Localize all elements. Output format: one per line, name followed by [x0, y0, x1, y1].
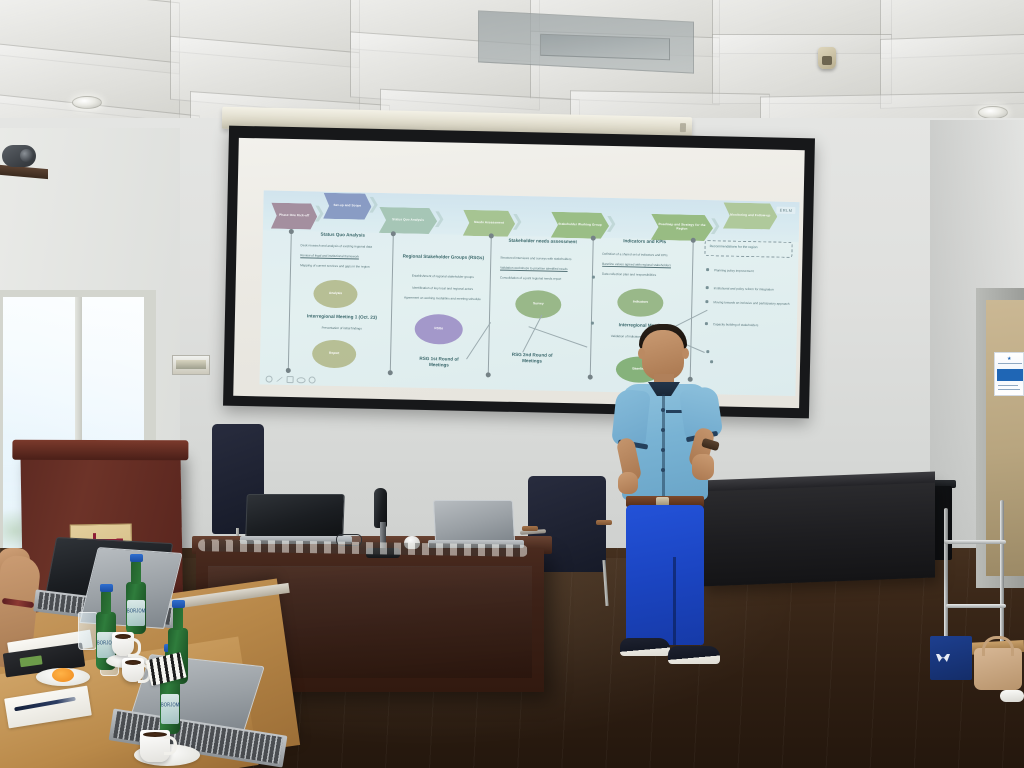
slide-col1-p2: Agreement on working modalities and meet… — [401, 295, 483, 301]
bottle-brand: BORJOMI — [161, 701, 179, 708]
conference-room-photo: Phase One Kick-off Set-up and Scope Stat… — [0, 0, 1024, 768]
circle-icon[interactable] — [309, 376, 316, 383]
ceiling-downlight — [72, 96, 102, 109]
slide-col1-node0: RSGs — [414, 314, 463, 345]
presenter-head — [642, 330, 684, 380]
slide-col2-p1: Validation workshops to prioritise ident… — [500, 266, 586, 272]
slide-col0-subtext: Presentation of initial findings — [299, 325, 385, 331]
slide-col0-node1: Report — [312, 340, 357, 369]
slide-col3-title: Indicators and KPIs — [603, 238, 687, 245]
slide-col2-node0: Survey — [515, 290, 562, 319]
slide-col3-p0: Definition of a shared set of indicators… — [602, 252, 688, 258]
slide-col1-title: Regional Stakeholder Groups (RSGs) — [402, 253, 484, 260]
ellipse-icon[interactable] — [297, 377, 306, 383]
slide-chevron-0: Phase One Kick-off — [271, 203, 318, 230]
stanchion-rail — [944, 540, 1006, 544]
slide-col0-p2: Mapping of current services and gaps in … — [300, 263, 386, 269]
presenter — [606, 322, 738, 674]
conference-bag — [930, 636, 972, 680]
slide-recommendations-box: Recommendations for the region — [704, 240, 792, 258]
handbag — [974, 648, 1022, 690]
slide-col0-p0: Desk research and analysis of existing r… — [300, 243, 386, 249]
slide-chevron-1: Set-up and Scope — [323, 193, 372, 220]
slide-col3-node0: Indicators — [617, 288, 664, 317]
coffee-mug-1 — [112, 632, 134, 656]
slide-col2-p0: Structured interviews and surveys with s… — [500, 256, 586, 262]
water-bottle-2: BORJOMI — [126, 582, 146, 634]
desk-laptop-dark[interactable] — [240, 494, 350, 546]
slide-col0-title: Status Quo Analysis — [301, 231, 385, 238]
slide-logo: ERLM — [777, 207, 796, 214]
bag-logo-icon — [936, 654, 950, 662]
participant-shoe — [1000, 690, 1024, 702]
pen-icon[interactable] — [276, 376, 283, 382]
slide-col0-subtitle: Interregional Meeting 1 (Oct. 23) — [299, 313, 385, 320]
presenter-left-hand — [618, 472, 638, 494]
slide-col3-p2: Data collection plan and responsibilitie… — [602, 272, 688, 278]
slide-icon[interactable] — [287, 376, 294, 383]
slide-column-rule — [390, 233, 394, 373]
drinking-glass — [78, 612, 97, 650]
slide-col0-p1: Review of legal and institutional framew… — [300, 253, 386, 259]
slide-column-rule — [488, 235, 492, 375]
slide-chevron-2: Status Quo Analysis — [379, 207, 438, 234]
door-poster: ★ — [994, 352, 1024, 396]
handbag-strap — [982, 636, 1014, 656]
slide-col3-p1: Baseline values agreed with regional sta… — [602, 262, 688, 268]
wall-outlet-plate[interactable] — [172, 355, 210, 375]
orange-slice — [52, 668, 74, 682]
lectern-top — [12, 440, 188, 461]
slide-col2-caption: RSG 2nd Round of Meetings — [510, 352, 554, 364]
cursor-icon[interactable] — [266, 375, 273, 382]
desk-laptop-macbook[interactable] — [428, 500, 520, 548]
presenter-right-hand — [692, 454, 714, 480]
slide-column-rule — [288, 231, 292, 371]
poster-star-icon: ★ — [1007, 356, 1011, 362]
presenter-shoe-left — [620, 638, 670, 656]
presenter-shoe-right — [668, 646, 720, 664]
door-glass[interactable] — [986, 300, 1024, 576]
slide-col1-p0: Establishment of regional stakeholder gr… — [402, 273, 484, 279]
slide-col2-title: Stakeholder needs assessment — [501, 238, 585, 245]
slide-col1-caption: RSG 1st Round of Meetings — [412, 356, 466, 368]
slide-toolbar[interactable] — [266, 375, 316, 383]
slide-col1-p1: Identification of key local and regional… — [402, 285, 484, 291]
bottle-brand: BORJOMI — [127, 607, 145, 614]
slide-col4-bullet1: Institutional and policy reform for inte… — [714, 286, 794, 292]
slide-col4-bullet2: Moving towards an inclusive and particip… — [713, 300, 793, 306]
slide-column-rule — [590, 238, 594, 378]
ceiling-camera-icon — [818, 47, 836, 69]
slide-col4-bullet0: Planning policy improvement — [714, 268, 794, 274]
stanchion-rail — [946, 604, 1006, 608]
folder-tab — [19, 655, 42, 667]
coffee-mug-3 — [140, 730, 170, 762]
chair-armrest — [522, 526, 538, 531]
coffee-mug-2 — [122, 658, 144, 682]
slide-col0-node0: Analysis — [313, 280, 358, 309]
wall-camera-icon — [2, 145, 36, 167]
slide-chevron-6: Monitoring and Follow-up — [723, 202, 778, 229]
presenter-trousers — [626, 505, 704, 645]
slide-col2-p2: Consolidation of a joint regional needs … — [500, 276, 586, 282]
